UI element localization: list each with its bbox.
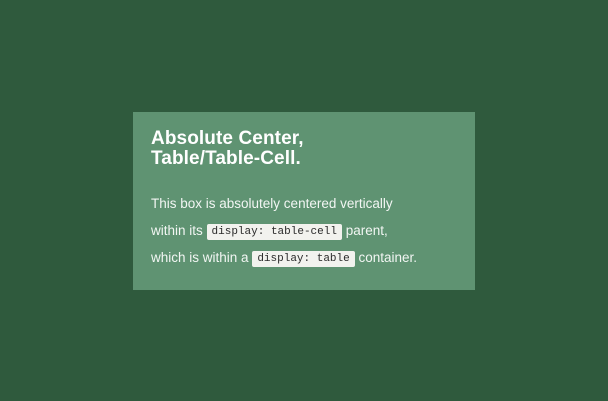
box-heading: Absolute Center, Table/Table-Cell. (151, 129, 455, 169)
absolute-center-box: Absolute Center, Table/Table-Cell. This … (133, 112, 475, 290)
page-table-wrapper: Absolute Center, Table/Table-Cell. This … (0, 0, 608, 401)
body-line-1-text: This box is absolutely centered vertical… (151, 196, 393, 211)
body-line-2: within its display: table-cell parent, (151, 217, 455, 244)
body-line-2-suffix: parent, (346, 223, 388, 238)
code-chip-table: display: table (252, 251, 354, 267)
page-table-cell: Absolute Center, Table/Table-Cell. This … (0, 0, 608, 401)
box-body-text: This box is absolutely centered vertical… (151, 190, 455, 271)
body-line-3-prefix: which is within a (151, 250, 249, 265)
body-line-1: This box is absolutely centered vertical… (151, 190, 455, 217)
body-line-3-suffix: container. (359, 250, 418, 265)
code-chip-table-cell: display: table-cell (207, 224, 342, 240)
body-line-2-prefix: within its (151, 223, 203, 238)
body-line-3: which is within a display: table contain… (151, 244, 455, 271)
